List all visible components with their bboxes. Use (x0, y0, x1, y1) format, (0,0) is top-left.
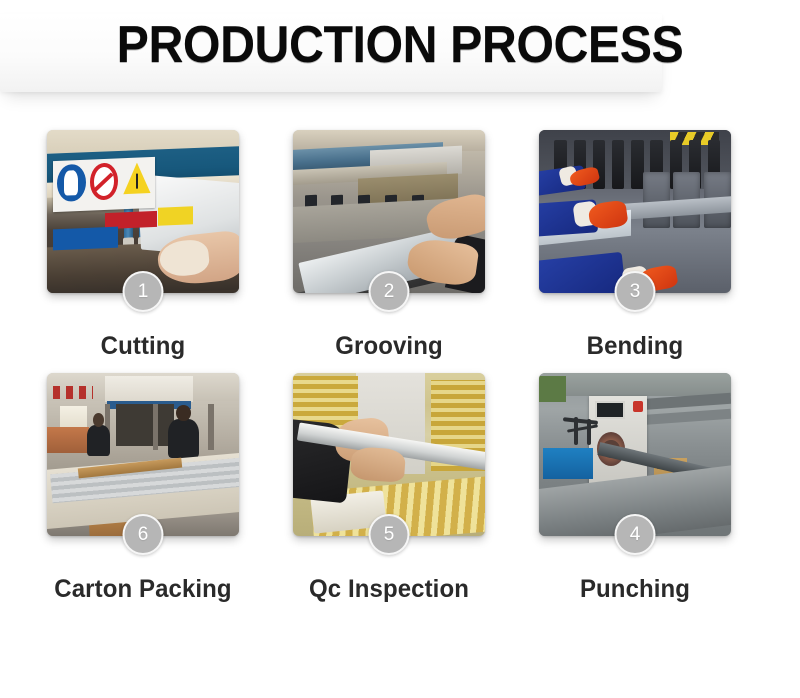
step-photo-wrapper: 3 (539, 130, 731, 293)
process-row-2: 6 Carton Packing (0, 373, 800, 604)
step-photo-wrapper: 6 (47, 373, 239, 536)
step-number-badge: 5 (369, 514, 410, 555)
process-step-punching[interactable]: 4 Punching (539, 373, 731, 604)
warning-triangle-icon (123, 162, 150, 194)
page-header: PRODUCTION PROCESS (0, 0, 800, 120)
wall-signage (53, 386, 93, 399)
inspector-hand (350, 446, 406, 482)
photo-scene (47, 130, 239, 293)
step-photo-wrapper: 5 (293, 373, 485, 536)
process-step-grooving[interactable]: 2 Grooving (293, 130, 485, 361)
process-row-1: 1 Cutting (0, 130, 800, 361)
process-steps-grid: 1 Cutting (0, 130, 800, 616)
page-title: PRODUCTION PROCESS (28, 16, 772, 74)
step-number-badge: 4 (615, 514, 656, 555)
bending-press-photo[interactable] (539, 130, 731, 293)
step-label: Bending (543, 332, 727, 361)
photo-scene (47, 373, 239, 536)
carton-packing-photo[interactable] (47, 373, 239, 536)
step-label: Grooving (297, 332, 481, 361)
indicator-lamp (633, 401, 643, 412)
process-step-qc-inspection[interactable]: 5 Qc Inspection (293, 373, 485, 604)
photo-scene (539, 130, 731, 293)
cutting-machine-photo[interactable] (47, 130, 239, 293)
safety-sign (53, 157, 155, 212)
step-photo-wrapper: 1 (47, 130, 239, 293)
step-number-badge: 6 (123, 514, 164, 555)
step-number-badge: 3 (615, 271, 656, 312)
step-label: Qc Inspection (297, 575, 481, 604)
step-photo-wrapper: 4 (539, 373, 731, 536)
punching-machine-photo[interactable] (539, 373, 731, 536)
photo-scene (293, 373, 485, 536)
qc-inspection-photo[interactable] (293, 373, 485, 536)
process-step-cutting[interactable]: 1 Cutting (47, 130, 239, 361)
photo-scene (293, 130, 485, 293)
step-label: Carton Packing (51, 575, 235, 604)
step-number-badge: 1 (123, 271, 164, 312)
process-step-bending[interactable]: 3 Bending (539, 130, 731, 361)
step-photo-wrapper: 2 (293, 130, 485, 293)
photo-scene (539, 373, 731, 536)
factory-worker (87, 425, 110, 456)
prohibition-icon (89, 163, 117, 202)
factory-worker (168, 419, 199, 458)
process-step-carton-packing[interactable]: 6 Carton Packing (47, 373, 239, 604)
step-label: Cutting (51, 332, 235, 361)
glove-safety-icon (57, 164, 85, 203)
grooving-machine-photo[interactable] (293, 130, 485, 293)
step-label: Punching (543, 575, 727, 604)
step-number-badge: 2 (369, 271, 410, 312)
